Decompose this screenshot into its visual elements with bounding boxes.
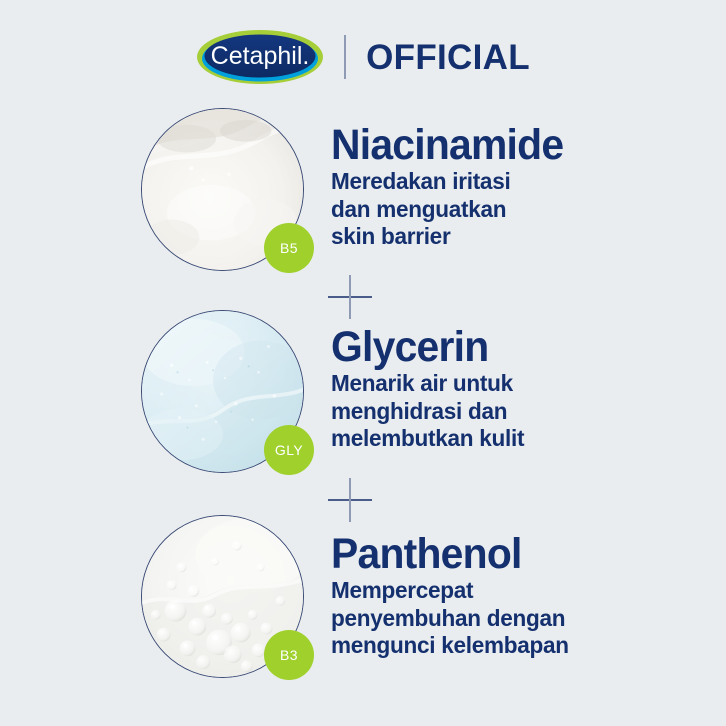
cetaphil-logo: Cetaphil.: [196, 27, 324, 87]
ingredient-badge: B5: [264, 223, 314, 273]
description-line: Menarik air untuk: [331, 370, 648, 397]
description-line: mengunci kelembapan: [331, 632, 648, 659]
description-line: melembutkan kulit: [331, 425, 648, 452]
official-label: OFFICIAL: [366, 40, 530, 75]
description-line: skin barrier: [331, 223, 648, 250]
ingredient-image-panthenol: B3: [141, 515, 304, 678]
ingredient-badge: GLY: [264, 425, 314, 475]
ingredient-description: Menarik air untuk menghidrasi dan melemb…: [331, 370, 648, 452]
description-line: Mempercepat: [331, 577, 648, 604]
ingredient-image-niacinamide: B5: [141, 108, 304, 271]
brand-header: Cetaphil. OFFICIAL: [0, 22, 726, 92]
ingredient-section-glycerin: GLY Glycerin Menarik air untuk menghidra…: [0, 310, 726, 480]
description-line: dan menguatkan: [331, 196, 648, 223]
svg-text:Cetaphil.: Cetaphil.: [211, 42, 310, 70]
ingredient-text-panthenol: Panthenol Mempercepat penyembuhan dengan…: [331, 533, 661, 660]
header-divider: [344, 35, 346, 79]
ingredient-text-glycerin: Glycerin Menarik air untuk menghidrasi d…: [331, 326, 661, 453]
ingredient-title: Niacinamide: [331, 124, 645, 166]
description-line: Meredakan iritasi: [331, 168, 648, 195]
ingredient-title: Panthenol: [331, 533, 645, 575]
description-line: penyembuhan dengan: [331, 605, 648, 632]
ingredient-description: Meredakan iritasi dan menguatkan skin ba…: [331, 168, 648, 250]
ingredient-badge: B3: [264, 630, 314, 680]
ingredient-image-glycerin: GLY: [141, 310, 304, 473]
ingredient-section-niacinamide: B5 Niacinamide Meredakan iritasi dan men…: [0, 108, 726, 278]
ingredient-description: Mempercepat penyembuhan dengan mengunci …: [331, 577, 648, 659]
ingredient-title: Glycerin: [331, 326, 645, 368]
description-line: menghidrasi dan: [331, 398, 648, 425]
ingredient-section-panthenol: B3 Panthenol Mempercepat penyembuhan den…: [0, 515, 726, 685]
ingredient-text-niacinamide: Niacinamide Meredakan iritasi dan mengua…: [331, 124, 661, 251]
